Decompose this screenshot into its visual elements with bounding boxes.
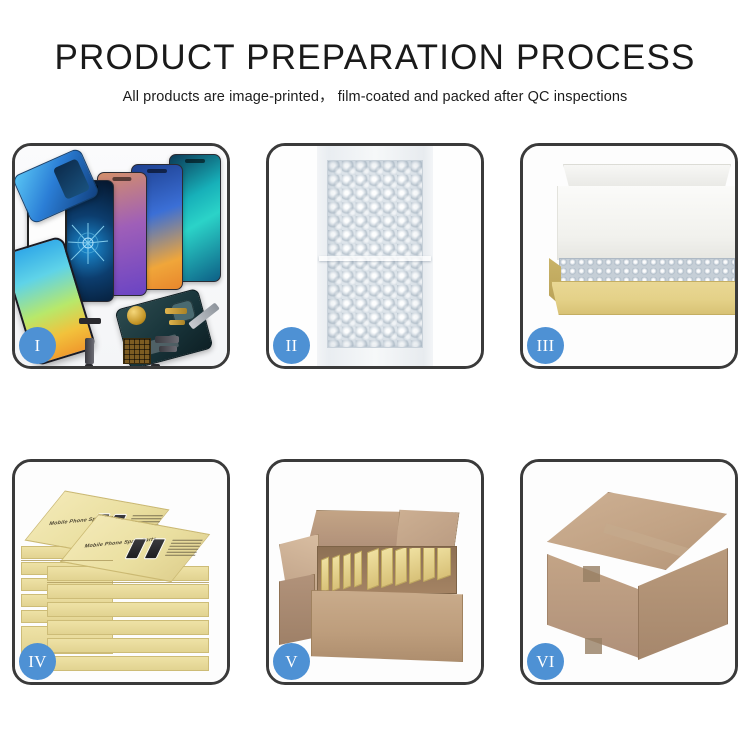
flex-cable-1 [85,338,94,364]
process-step-3[interactable]: III [520,143,738,369]
carton-seal-mark-top [583,566,600,582]
inner-box-bubble-wrap [559,258,735,284]
kraft-box-edge-1 [21,560,113,561]
step-badge-6: VI [527,643,564,680]
kraft-box-front-2 [47,584,209,599]
packed-box-8 [409,548,421,584]
packed-box-5 [367,548,379,590]
packed-box-10 [437,548,451,581]
packed-box-2 [332,554,340,591]
process-step-grid: I II III [12,143,738,685]
carton-left-side [279,574,315,648]
kraft-box-edge-2 [47,582,209,583]
kraft-box-spec-lines-2 [164,540,203,558]
packed-box-1 [321,556,329,592]
step-badge-1: I [19,327,56,364]
inner-box-interior [557,186,735,260]
small-part-bar-2 [85,364,93,366]
kraft-box-front-5 [47,638,209,653]
flex-cable-2 [155,336,179,343]
step-badge-5: V [273,643,310,680]
packed-box-3 [343,552,351,589]
process-step-6[interactable]: VI [520,459,738,685]
process-step-5[interactable]: V [266,459,484,685]
step-badge-3: III [527,327,564,364]
page-subtitle: All products are image-printed， film-coa… [0,85,750,106]
gold-connector-2 [169,320,185,325]
packed-box-7 [395,548,407,586]
crack-pattern-icon [66,221,110,265]
process-step-1[interactable]: I [12,143,230,369]
product-preparation-infographic: PRODUCT PREPARATION PROCESS All products… [0,0,750,750]
wrap-fold-line [319,256,431,261]
process-step-4[interactable]: Mobile Phone Spare Parts [12,459,230,685]
kraft-box-front-6 [47,656,209,671]
bubble-wrap-bubbles [327,160,423,348]
inner-box-front-wall [551,281,735,315]
gold-coil-part [127,306,146,325]
kraft-box-front-4 [47,620,209,635]
page-title: PRODUCT PREPARATION PROCESS [0,38,750,78]
packed-box-9 [423,548,435,582]
process-step-2[interactable]: II [266,143,484,369]
small-part-bar-4 [151,364,160,366]
packed-box-4 [354,550,362,587]
gold-connector-1 [165,308,187,314]
flex-cable-3 [159,346,177,352]
sealed-carton-top [547,492,727,570]
carton-contents [319,548,457,592]
carton-seal-mark-bottom [585,638,602,654]
carton-front-face [311,590,463,662]
step-badge-2: II [273,327,310,364]
small-part-bar-1 [79,318,101,324]
step-badge-4: IV [19,643,56,680]
chip-grid-part [123,338,151,364]
kraft-box-front-3 [47,602,209,617]
packed-box-6 [381,548,393,588]
